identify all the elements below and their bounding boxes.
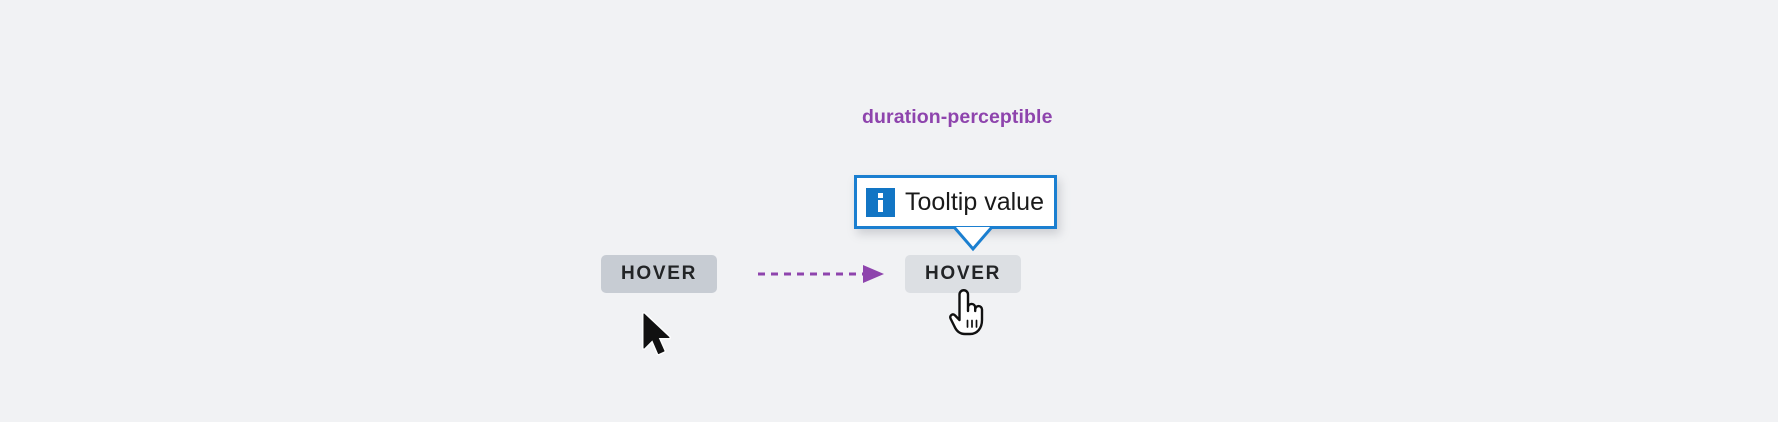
info-icon-dot [878, 193, 883, 198]
tooltip-pointer-icon [953, 226, 993, 252]
illustration-canvas: duration-perceptible Tooltip value HOVER… [0, 0, 1778, 422]
hover-button-default[interactable]: HOVER [601, 255, 717, 293]
hover-button-hovered[interactable]: HOVER [905, 255, 1021, 293]
info-icon-stem [878, 200, 883, 212]
tooltip: Tooltip value [854, 175, 1057, 229]
pointing-hand-cursor-icon [947, 287, 985, 337]
tooltip-text: Tooltip value [905, 190, 1044, 215]
transition-arrow-icon [758, 258, 888, 290]
transition-annotation-label: duration-perceptible [862, 106, 1053, 129]
arrow-cursor-icon [640, 312, 674, 358]
info-icon [866, 188, 895, 217]
